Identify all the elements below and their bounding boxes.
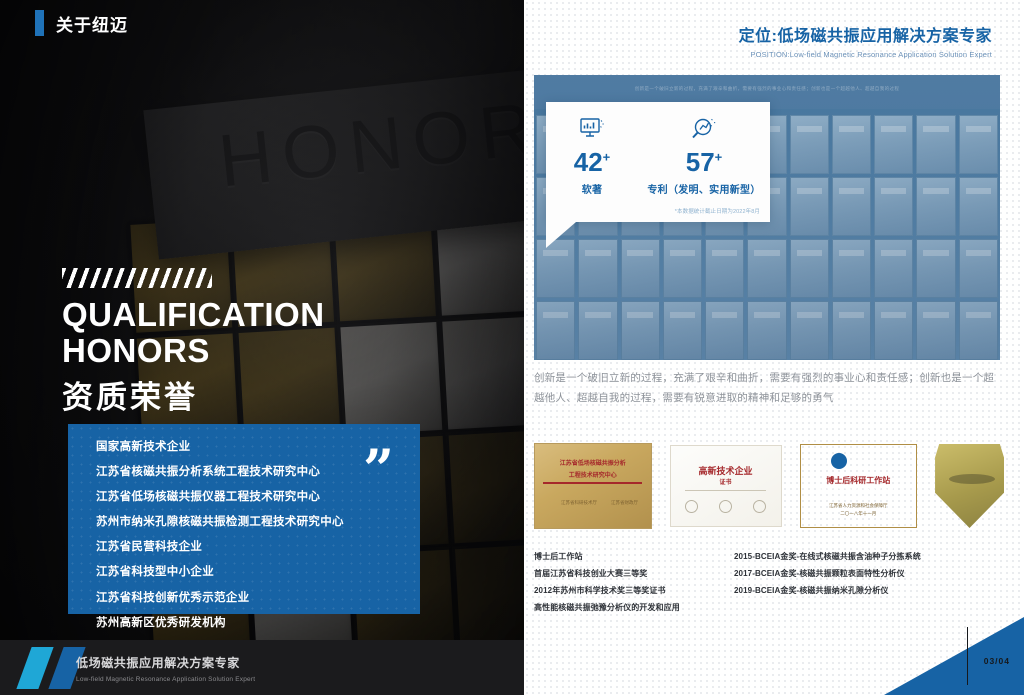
cert1-line2: 工程技术研究中心 [569,470,617,479]
cert2-divider [685,490,766,491]
footer-stripe-cyan-icon [16,647,53,689]
certificate-shield-plaque [935,444,1004,528]
page-title: QUALIFICATION HONORS 资质荣誉 [62,268,325,417]
breadcrumb: 关于纽迈 [35,10,128,36]
footer-tagline-cn: 低场磁共振应用解决方案专家 [76,654,240,671]
stats-footnote: *本数据统计截止日期为2022年8月 [675,207,760,215]
cert3-line1: 博士后科研工作站 [826,475,890,486]
magnifier-chart-icon [638,114,770,144]
award-item: 首届江苏省科技创业大赛三等奖 [534,569,706,579]
position-title-cn: 定位:低场磁共振应用解决方案专家 [739,22,992,46]
cert2-line1: 高新技术企业 [699,464,753,477]
stat-label-software: 软著 [546,181,638,196]
qualification-item: 江苏省科技创新优秀示范企业 [96,593,420,605]
qualification-item: 江苏省民营科技企业 [96,542,420,554]
quote-mark-icon: ” [363,448,394,491]
award-item: 2019-BCEIA金奖-核磁共振纳米孔隙分析仪 [734,586,1004,596]
cert2-seals [685,500,766,513]
certificate-engineering-center: 江苏省低场核磁共振分析 工程技术研究中心 江苏省科研技术厅 江苏省财政厅 [534,443,652,529]
certificate-high-tech-enterprise: 高新技术企业 证书 [670,445,782,527]
title-cn: 资质荣誉 [62,372,325,417]
cert3-line2: POSTDOCTORAL PROGRAMME [820,487,897,492]
monitor-chart-icon [546,114,638,144]
cert1-foot1: 江苏省科研技术厅 [561,500,597,506]
diagonal-slashes-icon [62,268,212,288]
footer-tagline-en: Low-field Magnetic Resonance Application… [76,676,255,683]
position-heading: 定位:低场磁共振应用解决方案专家 POSITION:Low-field Magn… [739,22,992,59]
cert1-divider [543,482,642,484]
stats-row: 42+ 软著 57+ 专利（发明、实用新型） [546,102,770,196]
cert3-emblem-icon [831,453,847,469]
page-number: 03/04 [984,656,1010,666]
accent-bar-icon [35,10,44,36]
award-item: 2012年苏州市科学技术奖三等奖证书 [534,586,706,596]
award-item: 博士后工作站 [534,552,706,562]
stat-patents: 57+ 专利（发明、实用新型） [638,114,770,196]
award-item: 高性能核磁共振弛豫分析仪的开发和应用 [534,603,706,613]
stat-label-patents: 专利（发明、实用新型） [638,181,770,196]
stat-plus-patents: + [715,149,723,164]
qualification-item: 江苏省科技型中小企业 [96,567,420,579]
certificate-postdoctoral-programme: 博士后科研工作站 POSTDOCTORAL PROGRAMME 江苏省人力资源和… [800,444,918,528]
awards-columns: 博士后工作站首届江苏省科技创业大赛三等奖2012年苏州市科学技术奖三等奖证书高性… [534,552,1004,620]
cert3-foot1: 江苏省人力资源和社会保障厅 [829,503,888,509]
stat-software-copyright: 42+ 软著 [546,114,638,196]
cert2-line2: 证书 [720,477,732,486]
footer-bar: 低场磁共振应用解决方案专家 Low-field Magnetic Resonan… [0,640,524,695]
qualification-item: 苏州市纳米孔隙核磁共振检测工程技术研究中心 [96,517,420,529]
cert3-foot2: 二〇一八年十一月 [840,511,876,517]
cert1-foot2: 江苏省财政厅 [611,500,638,506]
position-title-en: POSITION:Low-field Magnetic Resonance Ap… [739,50,992,59]
cert4-emblem-icon [949,474,995,484]
title-en-line2: HONORS [62,333,325,369]
certificates-row: 江苏省低场核磁共振分析 工程技术研究中心 江苏省科研技术厅 江苏省财政厅 高新技… [534,440,1004,532]
qualification-item: 苏州高新区优秀研发机构 [96,618,420,630]
breadcrumb-label: 关于纽迈 [56,11,128,36]
stat-number-patents: 57 [686,147,715,177]
awards-column-right: 2015-BCEIA金奖-在线式核磁共振含油种子分拣系统2017-BCEIA金奖… [734,552,1004,620]
stat-plus-software: + [603,149,611,164]
innovation-paragraph: 创新是一个破旧立新的过程，充满了艰辛和曲折，需要有强烈的事业心和责任感；创新也是… [534,368,1004,409]
awards-column-left: 博士后工作站首届江苏省科技创业大赛三等奖2012年苏州市科学技术奖三等奖证书高性… [534,552,706,620]
left-panel: HONOR 关于纽迈 QUALIFICATION HONORS 资质荣誉 ” 国… [0,0,524,695]
stat-value-patents: 57+ [638,149,770,175]
title-en-line1: QUALIFICATION [62,297,325,333]
qualifications-card: ” 国家高新技术企业江苏省核磁共振分析系统工程技术研究中心江苏省低场核磁共振仪器… [68,424,420,614]
stat-number-software: 42 [574,147,603,177]
award-item: 2015-BCEIA金奖-在线式核磁共振含油种子分拣系统 [734,552,1004,562]
stat-value-software: 42+ [546,149,638,175]
slide-root: HONOR 关于纽迈 QUALIFICATION HONORS 资质荣誉 ” 国… [0,0,1024,695]
stats-callout-card: 42+ 软著 57+ 专利（发明、实用新型） *本 [546,102,770,222]
page-number-rule [967,627,969,685]
award-item: 2017-BCEIA金奖-核磁共振颗粒表面特性分析仪 [734,569,1004,579]
cert1-line1: 江苏省低场核磁共振分析 [560,458,626,467]
